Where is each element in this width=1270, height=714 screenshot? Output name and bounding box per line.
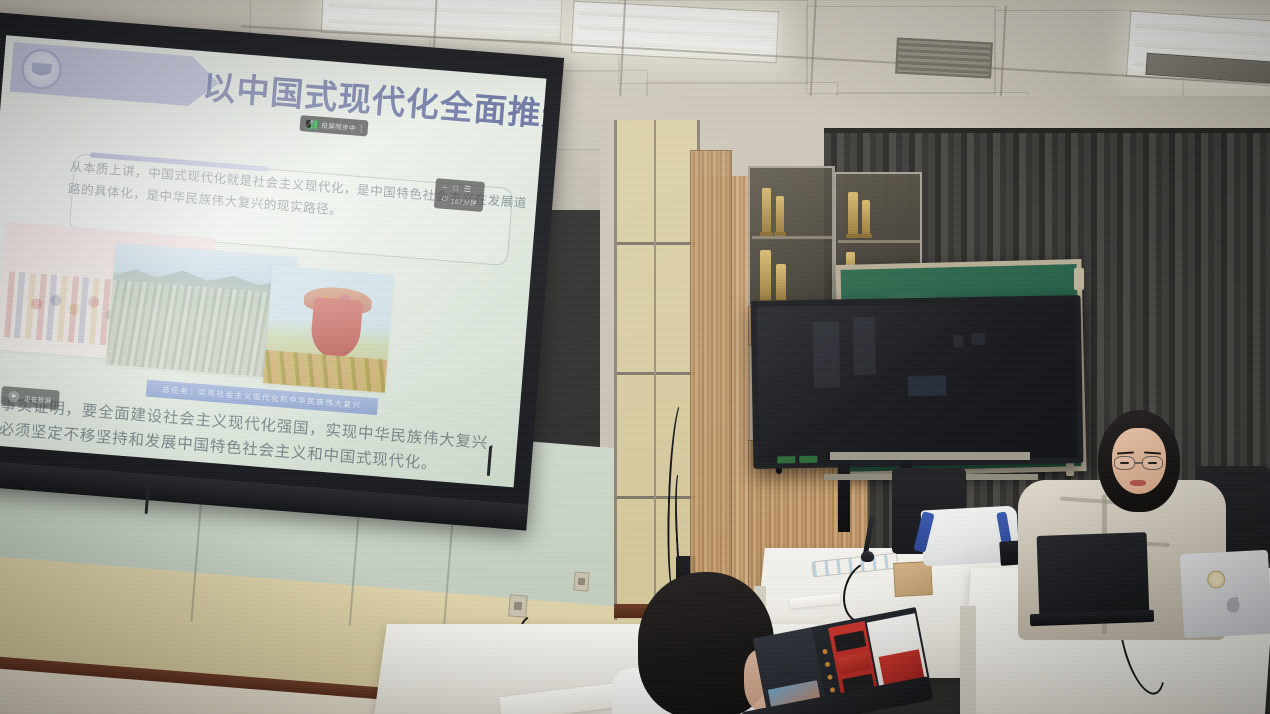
wall-power-outlet[interactable] [573,571,589,591]
photo-scene: 以中国式现代化全面推进中华民族伟大复兴 从本质上讲，中国式现代化就是社会主义现代… [0,0,1270,714]
trophy [762,188,771,232]
wall-power-outlet[interactable] [508,594,528,617]
battery-remaining-label: 167分钟 [451,195,477,207]
projection-screen: 以中国式现代化全面推进中华民族伟大复兴 从本质上讲，中国式现代化就是社会主义现代… [0,12,564,536]
seated-woman-right-mouth [1130,480,1146,486]
projection-screen-surface: 以中国式现代化全面推进中华民族伟大复兴 从本质上讲，中国式现代化就是社会主义现代… [0,35,546,487]
trophy [776,196,784,232]
chalkboard-hinge [1074,268,1084,290]
microphone-icon[interactable]: 🎤 [306,120,312,128]
minimize-icon[interactable]: − [442,183,447,192]
trophy [848,192,858,234]
wall-display-monitor[interactable] [751,295,1084,469]
trophy [862,200,870,234]
maximize-icon[interactable]: □ [453,184,459,193]
round-gold-sticker [1207,570,1226,589]
projection-screen-frame: 以中国式现代化全面推进中华民族伟大复兴 从本质上讲，中国式现代化就是社会主义现代… [0,12,564,531]
projection-window-overlay: − □ ☰ ⏻ 167分钟 [434,178,485,212]
tiananmen-flower-basket-photo [263,265,394,392]
battery-icon: ⏻ [441,196,447,204]
macbook-laptop[interactable] [1180,550,1270,638]
tv-stand-rail [830,452,1030,460]
university-emblem-icon [20,48,63,91]
cabinet-shelf [752,236,832,239]
apple-logo-icon [1226,597,1240,613]
tv-brand-logo-icon [777,456,795,463]
projection-play-label: 正在投屏 [24,392,52,404]
trophy [760,250,771,300]
projection-status-label: 投屏同步中 [321,120,356,133]
cardboard-box [893,561,933,597]
close-icon[interactable]: ☰ [463,184,471,194]
trophy [776,264,786,300]
wood-wall-panel [690,150,732,620]
tv-status-led-icon [799,456,817,463]
tv-stand-post [838,462,850,532]
play-icon[interactable] [8,391,20,403]
slide-bottom-text: 事实证明，要全面建设社会主义现代化强国，实现中华民族伟大复兴，必须坚定不移坚持和… [0,392,512,483]
cabinet-shelf [838,240,920,243]
black-laptop[interactable] [1037,532,1150,620]
slide-title: 以中国式现代化全面推进中华民族伟大复兴 [201,69,546,135]
air-vent [895,38,993,79]
slide-header-banner [10,42,221,109]
